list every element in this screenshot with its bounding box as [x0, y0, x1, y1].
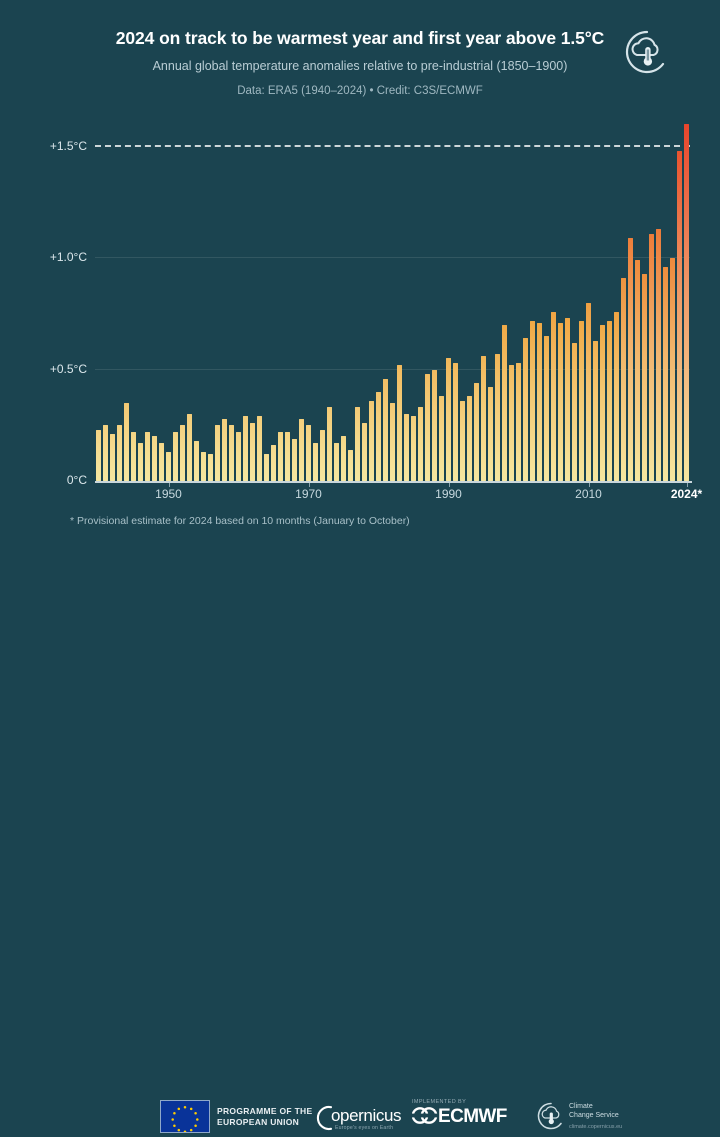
bar: [194, 441, 199, 481]
bar: [467, 396, 472, 481]
footnote: * Provisional estimate for 2024 based on…: [70, 515, 410, 527]
bar: [180, 425, 185, 481]
bar: [516, 363, 521, 481]
bar: [432, 370, 437, 481]
c3s-cloud-thermometer-icon: [623, 28, 671, 76]
chart-subtitle: Annual global temperature anomalies rela…: [0, 59, 720, 73]
ecmwf-wordmark: ECMWF: [438, 1106, 507, 1127]
bar: [425, 374, 430, 481]
bar: [670, 258, 675, 481]
x-axis-tick-label: 1970: [295, 487, 322, 501]
x-axis-line: [95, 481, 692, 483]
bar: [124, 403, 129, 481]
eu-line-2: EUROPEAN UNION: [217, 1117, 312, 1128]
bar: [495, 354, 500, 481]
bar: [222, 419, 227, 481]
chart-credit: Data: ERA5 (1940–2024) • Credit: C3S/ECM…: [0, 85, 720, 97]
bar: [285, 432, 290, 481]
bar: [355, 407, 360, 481]
bar: [684, 124, 689, 481]
bar: [523, 338, 528, 481]
eu-line-1: PROGRAMME OF THE: [217, 1106, 312, 1117]
bar: [460, 401, 465, 481]
implemented-by-label: IMPLEMENTED BY: [412, 1099, 466, 1105]
bar: [110, 434, 115, 481]
bar: [320, 430, 325, 481]
bar: [376, 392, 381, 481]
x-axis-tick-label: 1950: [155, 487, 182, 501]
bar: [544, 336, 549, 481]
bar: [628, 238, 633, 481]
bar: [537, 323, 542, 481]
copernicus-wordmark: opernicus: [331, 1106, 401, 1126]
bar: [439, 396, 444, 481]
bar: [551, 312, 556, 481]
bar: [250, 423, 255, 481]
bar: [474, 383, 479, 481]
threshold-line-1-5c: [95, 145, 690, 147]
bar: [656, 229, 661, 481]
european-union-flag: [160, 1100, 210, 1133]
chart-plot-area: [95, 120, 690, 481]
bar: [418, 407, 423, 481]
bar: [138, 443, 143, 481]
bar: [306, 425, 311, 481]
climate-change-service-logo: Climate Change Service climate.copernicu…: [536, 1101, 656, 1133]
infographic-canvas: 2024 on track to be warmest year and fir…: [0, 0, 720, 592]
bar: [341, 436, 346, 481]
bar: [404, 414, 409, 481]
bar: [292, 439, 297, 481]
bar: [579, 321, 584, 481]
bar: [502, 325, 507, 481]
y-axis-tick-label: 0°C: [21, 473, 87, 487]
bar: [635, 260, 640, 481]
bar: [159, 443, 164, 481]
bar: [96, 430, 101, 481]
y-axis-tick-label: +0.5°C: [21, 362, 87, 376]
bar: [229, 425, 234, 481]
ecmwf-logo: ECMWF: [412, 1106, 507, 1128]
bar: [362, 423, 367, 481]
bar: [278, 432, 283, 481]
c3s-url: climate.copernicus.eu: [569, 1124, 622, 1130]
x-axis-tick-label: 2024*: [671, 487, 702, 501]
bar: [649, 234, 654, 481]
copernicus-logo: opernicus Europe's eyes on Earth: [315, 1104, 410, 1132]
bar: [411, 416, 416, 481]
bar: [369, 401, 374, 481]
bar: [166, 452, 171, 481]
bar: [481, 356, 486, 481]
copernicus-tagline: Europe's eyes on Earth: [335, 1125, 393, 1131]
bar: [187, 414, 192, 481]
bar: [677, 151, 682, 481]
c3s-line-2: Change Service: [569, 1112, 619, 1119]
bar: [397, 365, 402, 481]
bar: [614, 312, 619, 481]
bar: [173, 432, 178, 481]
bar: [621, 278, 626, 481]
bar: [558, 323, 563, 481]
bar: [509, 365, 514, 481]
x-axis-tick-label: 1990: [435, 487, 462, 501]
bar: [271, 445, 276, 481]
bar: [103, 425, 108, 481]
bar: [131, 432, 136, 481]
c3s-line-1: Climate: [569, 1103, 593, 1110]
bar: [313, 443, 318, 481]
bar: [390, 403, 395, 481]
bar: [348, 450, 353, 481]
bar: [593, 341, 598, 481]
bar: [663, 267, 668, 481]
bar: [530, 321, 535, 481]
bar: [572, 343, 577, 481]
bar: [607, 321, 612, 481]
bar: [145, 432, 150, 481]
x-axis-tick-label: 2010: [575, 487, 602, 501]
bar: [215, 425, 220, 481]
bar: [236, 432, 241, 481]
bar: [488, 387, 493, 481]
bar: [446, 358, 451, 481]
bar: [201, 452, 206, 481]
bar: [208, 454, 213, 481]
bar: [453, 363, 458, 481]
bar: [565, 318, 570, 481]
footer-logos: PROGRAMME OF THE EUROPEAN UNION opernicu…: [0, 548, 720, 588]
eu-programme-label: PROGRAMME OF THE EUROPEAN UNION: [217, 1106, 312, 1127]
bar: [586, 303, 591, 481]
bar: [299, 419, 304, 481]
gridline: [95, 257, 690, 258]
y-axis-tick-label: +1.5°C: [21, 139, 87, 153]
bar: [383, 379, 388, 482]
bar: [264, 454, 269, 481]
bar: [642, 274, 647, 481]
bar: [117, 425, 122, 481]
bar: [334, 443, 339, 481]
bar: [327, 407, 332, 481]
bar: [257, 416, 262, 481]
y-axis-tick-label: +1.0°C: [21, 250, 87, 264]
bar: [600, 325, 605, 481]
page-title: 2024 on track to be warmest year and fir…: [0, 28, 720, 49]
bar: [243, 416, 248, 481]
bar: [152, 436, 157, 481]
